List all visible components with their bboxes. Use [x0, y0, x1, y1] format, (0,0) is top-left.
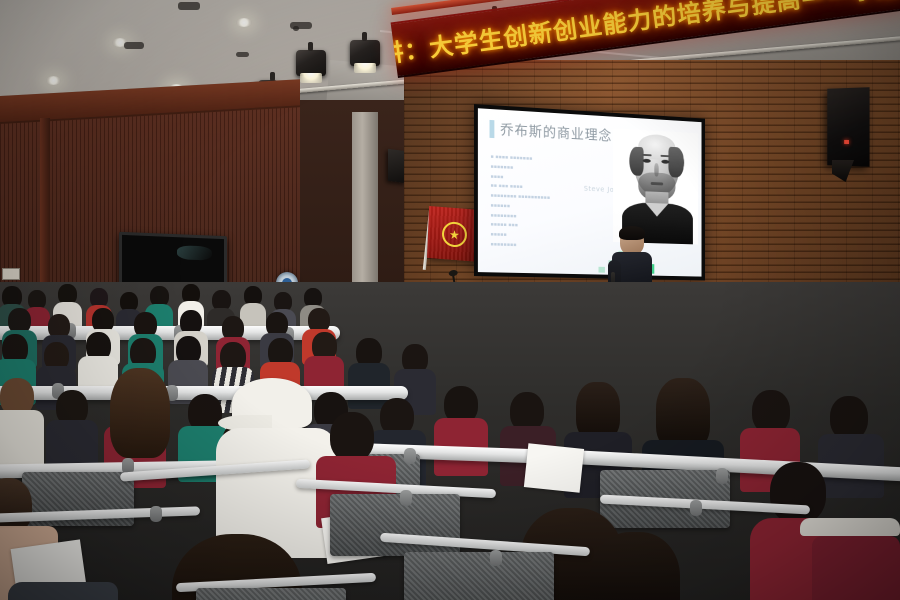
audience-area: [0, 282, 900, 600]
slide-title-accent: [490, 120, 495, 138]
note-paper: [524, 443, 584, 493]
seat-joint: [150, 506, 162, 522]
white-cap: [232, 378, 312, 428]
seat-back: [404, 552, 554, 600]
flag-emblem-icon: ★: [441, 221, 467, 248]
ceiling-vent: [178, 2, 200, 10]
person-head: [330, 412, 374, 462]
slide-title: 乔布斯的商业理念: [500, 120, 612, 146]
portrait-hair-left: [629, 146, 643, 175]
wall-switch-plate[interactable]: [2, 268, 20, 280]
portrait-mouth: [651, 182, 663, 185]
seat-joint: [400, 490, 412, 506]
person-head: [590, 532, 680, 600]
person-body: [0, 410, 44, 468]
downlight-icon: [46, 76, 61, 85]
slide-bar: [599, 267, 605, 273]
person-head: [110, 368, 170, 458]
person-head: [770, 462, 826, 524]
ceiling-vent: [236, 52, 249, 57]
person-body: [8, 582, 118, 600]
monitor-glare: [177, 245, 212, 261]
stage-spotlight-icon: [350, 40, 380, 66]
ceiling-vent: [293, 26, 299, 31]
presenter-hair: [619, 226, 645, 240]
seat-back: [330, 494, 460, 556]
seat-joint: [716, 468, 728, 484]
downlight-icon: [236, 18, 252, 27]
slide-bullet-line: ▪▪▪▪▪▪▪▪: [490, 240, 592, 252]
lecture-hall-photo: 第五讲：大学生创新创业能力的培养与提高——李建伟老师 ★ 乔布斯的商业理念 ▪ …: [0, 0, 900, 600]
wall-speaker-icon: [827, 87, 869, 167]
person-body: [812, 536, 900, 600]
person-body: [800, 518, 900, 536]
stage-spotlight-icon: [296, 50, 326, 76]
slide-bullet-list: ▪ ▪▪▪▪ ▪▪▪▪▪▪▪▪▪▪▪▪▪▪▪▪▪▪▪▪ ▪▪▪ ▪▪▪▪▪▪▪▪…: [490, 153, 592, 253]
seat-joint: [490, 550, 502, 566]
projection-screen: 乔布斯的商业理念 ▪ ▪▪▪▪ ▪▪▪▪▪▪▪▪▪▪▪▪▪▪▪▪▪▪▪▪ ▪▪▪…: [474, 104, 705, 280]
portrait-eye-left: [643, 159, 651, 163]
portrait-hair-right: [668, 147, 684, 178]
speaker-power-led: [844, 140, 849, 144]
seat-joint: [404, 448, 416, 464]
ceiling-vent: [124, 42, 144, 49]
flag-star-glyph: ★: [449, 228, 460, 241]
portrait-eye-right: [661, 160, 669, 164]
seat-joint: [690, 500, 702, 516]
seat-back: [196, 588, 346, 600]
